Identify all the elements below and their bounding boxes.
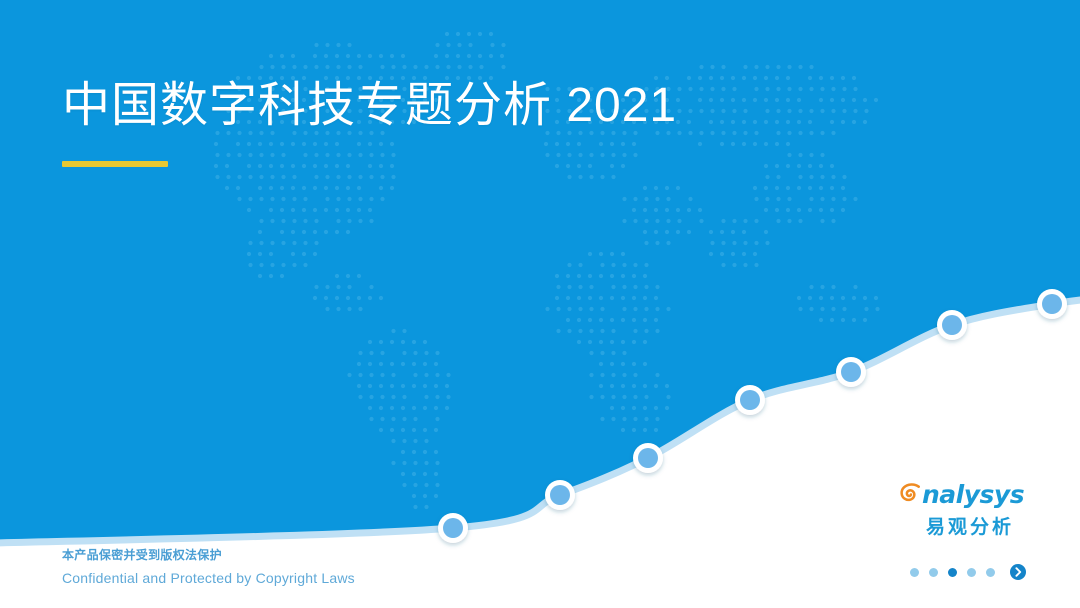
pagination[interactable] — [910, 561, 1029, 583]
pagination-dot-active[interactable] — [948, 568, 957, 577]
next-slide-button[interactable] — [1007, 561, 1029, 583]
logo-wordmark: nalysys — [898, 478, 1028, 510]
logo-swoosh-icon — [898, 481, 924, 507]
pagination-dot[interactable] — [967, 568, 976, 577]
chart-data-point — [438, 513, 468, 543]
pagination-dot[interactable] — [929, 568, 938, 577]
title-accent-rule — [62, 161, 168, 167]
logo-wordmark-cn: 易观分析 — [898, 512, 1028, 539]
chart-data-point — [937, 310, 967, 340]
page-title: 中国数字科技专题分析 2021 — [62, 78, 677, 135]
chart-data-point — [735, 385, 765, 415]
logo-wordmark-text: nalysys — [922, 482, 1024, 507]
copyright-notice-cn: 本产品保密并受到版权法保护 — [62, 546, 355, 565]
chart-data-point — [1037, 289, 1067, 319]
pagination-dot[interactable] — [986, 568, 995, 577]
copyright-notice: 本产品保密并受到版权法保护 Confidential and Protected… — [62, 546, 355, 589]
chevron-right-icon — [1010, 564, 1026, 580]
title-block: 中国数字科技专题分析 2021 — [62, 78, 677, 167]
pagination-dot[interactable] — [910, 568, 919, 577]
chart-data-point — [836, 357, 866, 387]
copyright-notice-en: Confidential and Protected by Copyright … — [62, 568, 355, 590]
chart-data-point — [633, 443, 663, 473]
analysys-logo: nalysys 易观分析 — [898, 478, 1028, 539]
slide-canvas: 中国数字科技专题分析 2021 本产品保密并受到版权法保护 Confidenti… — [0, 0, 1080, 608]
chart-data-point — [545, 480, 575, 510]
